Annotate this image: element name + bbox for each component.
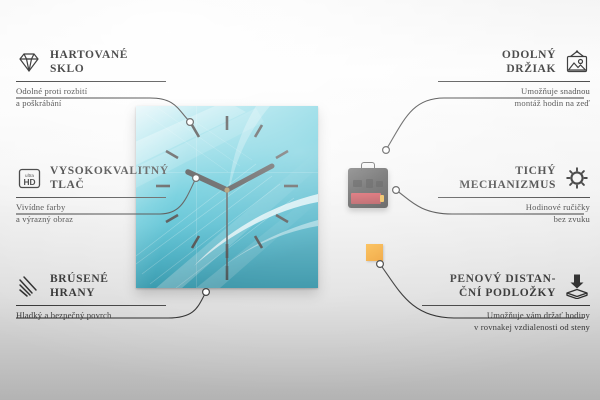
endpoint-edges <box>203 289 210 296</box>
feature-subtitle: Vivídne farby a výrazný obraz <box>16 202 166 226</box>
feature-subtitle: Odolné proti rozbití a poškrábání <box>16 86 166 110</box>
feature-divider <box>438 197 590 198</box>
feature-divider <box>16 197 166 198</box>
feature-subtitle: Umožňuje snadnou montáž hodin na zeď <box>438 86 590 110</box>
endpoint-glass <box>187 119 194 126</box>
feature-title: PENOVÝ DISTAN- ČNÍ PODLOŽKY <box>450 272 556 300</box>
endpoint-holder <box>383 147 390 154</box>
svg-text:HD: HD <box>23 177 35 187</box>
feature-title: TICHÝ MECHANIZMUS <box>459 164 556 192</box>
feature-heading-row: BRÚSENÉ HRANY <box>16 272 166 300</box>
polished-edges-icon <box>16 273 42 299</box>
feature-foam-spacers: PENOVÝ DISTAN- ČNÍ PODLOŽKY Umožňuje vám… <box>422 272 590 334</box>
feature-high-quality-print: ultra HD VYSOKOKVALITNÝ TLAČ Vivídne far… <box>16 164 166 226</box>
stacked-arrow-down-icon <box>564 273 590 299</box>
feature-divider <box>438 81 590 82</box>
feature-tempered-glass: HARTOVANÉ SKLO Odolné proti rozbití a po… <box>16 48 166 110</box>
feature-heading-row: PENOVÝ DISTAN- ČNÍ PODLOŽKY <box>422 272 590 300</box>
feature-subtitle: Hladký a bezpečný povrch <box>16 310 166 322</box>
feature-title: ODOLNÝ DRŽIAK <box>502 48 556 76</box>
feature-title: BRÚSENÉ HRANY <box>50 272 109 300</box>
feature-silent-mechanism: TICHÝ MECHANIZMUS Hodinové ručičky bez z… <box>438 164 590 226</box>
feature-heading-row: ODOLNÝ DRŽIAK <box>438 48 590 76</box>
feature-durable-holder: ODOLNÝ DRŽIAK Umožňuje snadnou montáž ho… <box>438 48 590 110</box>
feature-divider <box>16 305 166 306</box>
feature-heading-row: HARTOVANÉ SKLO <box>16 48 166 76</box>
wall-hanger-frame-icon <box>564 49 590 75</box>
endpoint-foam <box>377 261 384 268</box>
infographic-canvas: HARTOVANÉ SKLO Odolné proti rozbití a po… <box>0 0 600 400</box>
feature-divider <box>422 305 590 306</box>
feature-subtitle: Umožňuje vám držať hodiny v rovnakej vzd… <box>422 310 590 334</box>
diamond-icon <box>16 49 42 75</box>
endpoint-print <box>193 175 200 182</box>
feature-title: VYSOKOKVALITNÝ TLAČ <box>50 164 169 192</box>
gear-icon <box>564 165 590 191</box>
feature-polished-edges: BRÚSENÉ HRANY Hladký a bezpečný povrch <box>16 272 166 322</box>
feature-heading-row: TICHÝ MECHANIZMUS <box>438 164 590 192</box>
feature-title: HARTOVANÉ SKLO <box>50 48 128 76</box>
ultra-hd-badge-icon: ultra HD <box>16 165 42 191</box>
endpoint-mechanism <box>393 187 400 194</box>
feature-subtitle: Hodinové ručičky bez zvuku <box>438 202 590 226</box>
feature-divider <box>16 81 166 82</box>
feature-heading-row: ultra HD VYSOKOKVALITNÝ TLAČ <box>16 164 166 192</box>
